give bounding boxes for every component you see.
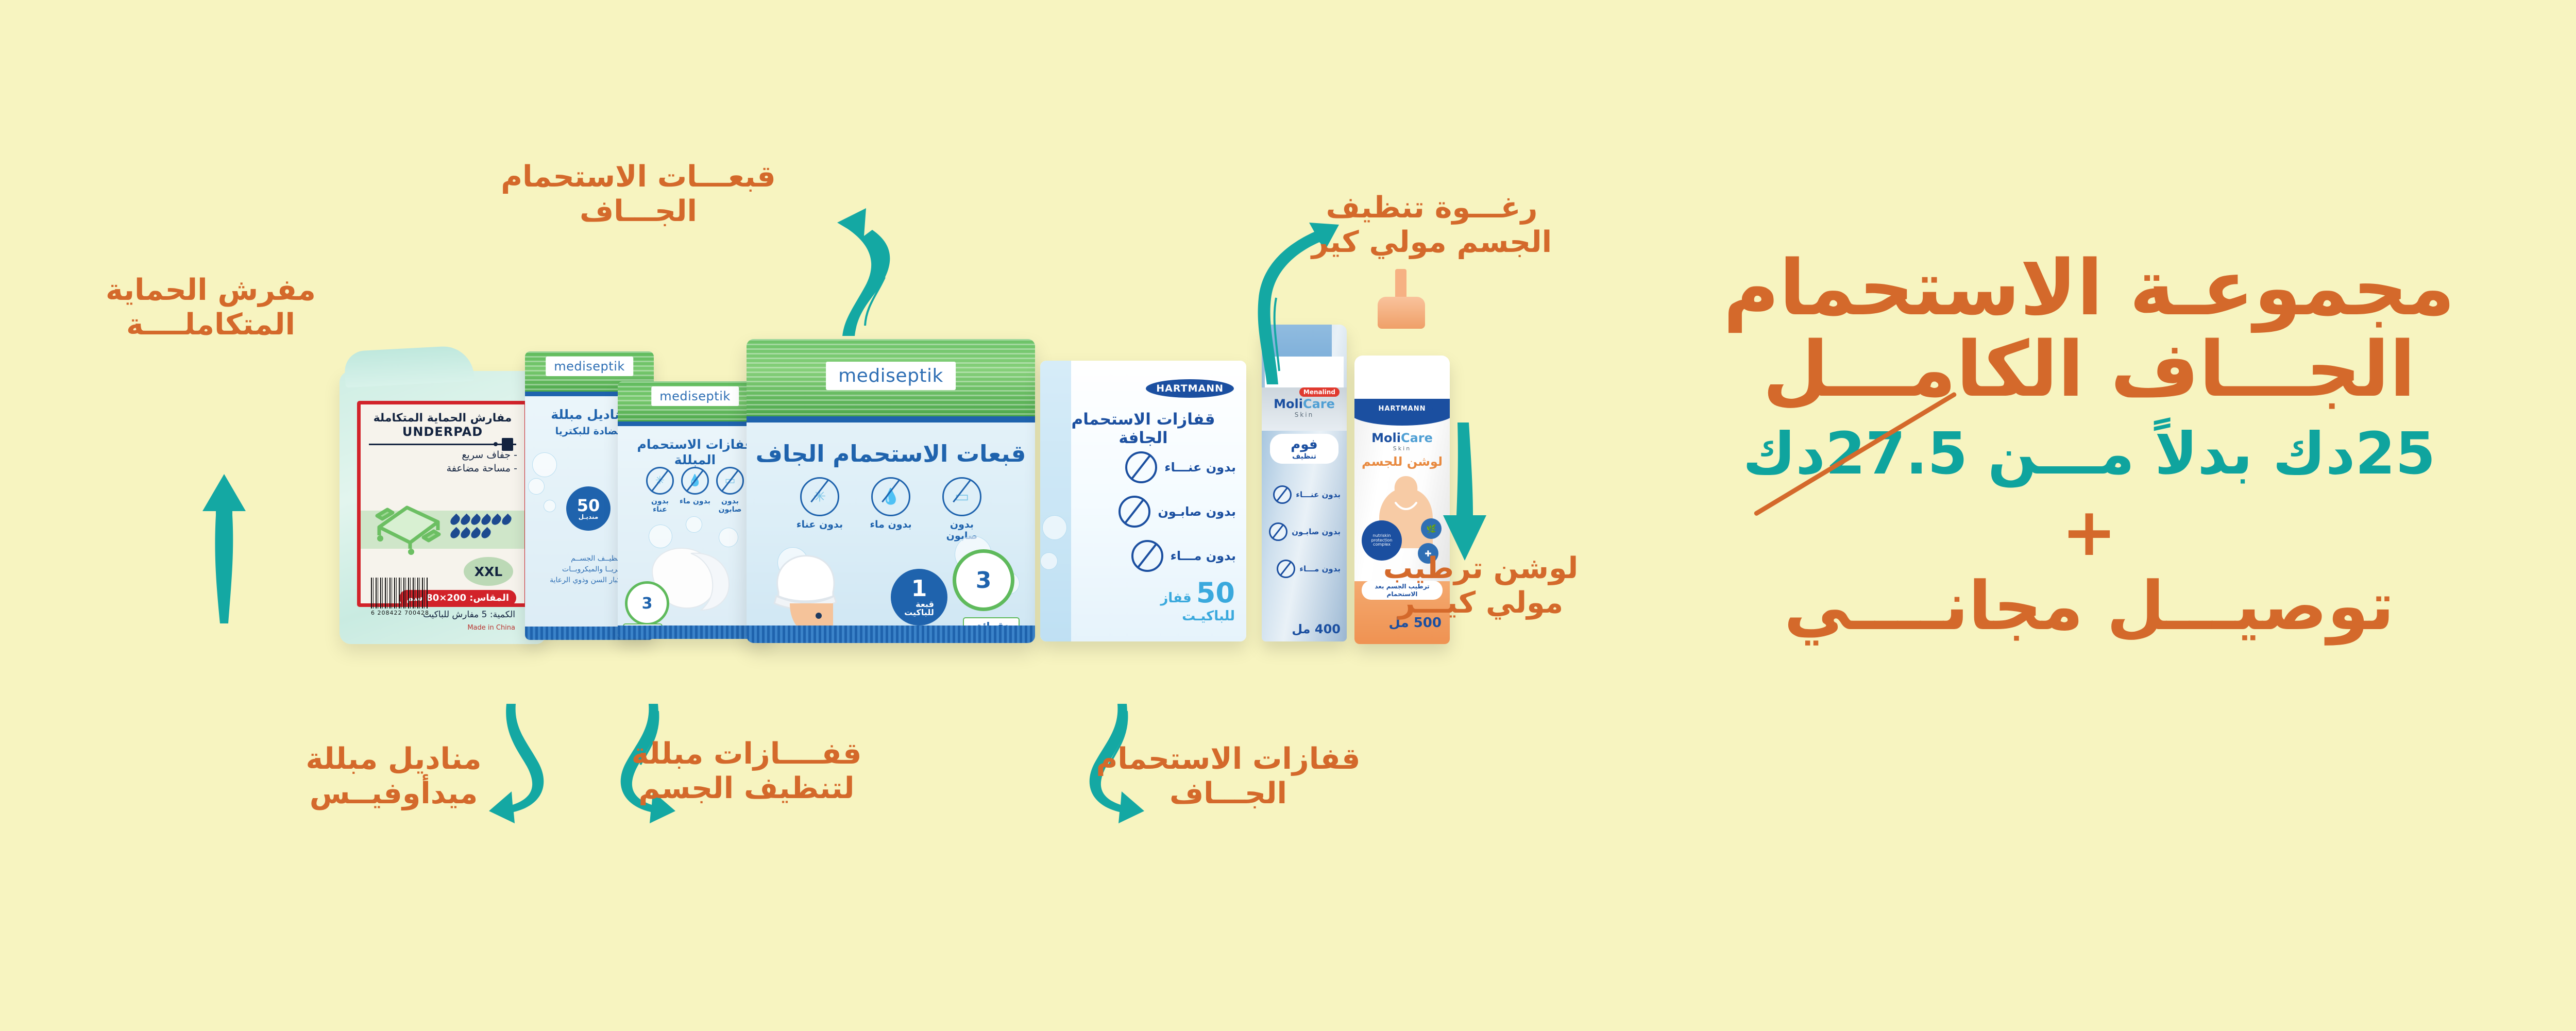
hero-title-line-2: الجـــاف الكامـــل xyxy=(1664,329,2514,410)
feature-no-soap: بدون صابـون xyxy=(1118,496,1236,528)
pack-count: 1 xyxy=(911,578,927,600)
feature-no-soap: ▭ بدون صابون xyxy=(937,477,987,542)
sparkle-icon xyxy=(1273,485,1292,504)
sparkle-icon: ✳ xyxy=(655,475,665,487)
feature-no-water: بدون مـــاء xyxy=(1131,540,1236,572)
menalind-badge: Menalind xyxy=(1299,387,1340,397)
molicare-skin-label: Skin xyxy=(1262,411,1347,418)
absorbency-drops xyxy=(451,515,517,539)
molicare-logo: MoliCare xyxy=(1266,397,1343,411)
hero-plus-sign: + xyxy=(1664,500,2514,566)
feature-no-soap: بدون صابـون xyxy=(1269,522,1341,541)
hero-price-row: 25دك بدلاً مـــن 27.5دك xyxy=(1664,422,2514,486)
callout-wet-wipes: مناديل مبللة ميدأوفيــس xyxy=(273,742,515,812)
callout-body-lotion: لوشن ترطيب مولي كيـــر xyxy=(1365,551,1597,621)
underpad-quantity: الكمية: 5 مفارش للباكيت xyxy=(423,610,515,620)
wipes-count-badge: 50 منديـل xyxy=(566,486,611,531)
dry-caps-title: قبعات الاستحمام الجاف xyxy=(751,440,1031,468)
hero-free-delivery: توصيـــل مجانــــي xyxy=(1664,571,2514,641)
product-dry-caps: mediseptik قبعات الاستحمام الجاف ▭ بدون … xyxy=(747,339,1035,643)
barcode-number: 6 208422 700428 xyxy=(371,610,429,616)
product-underpad: مفارش الحماية المتكاملة UNDERPAD - جفاف … xyxy=(340,371,546,644)
timer-badge: 3 xyxy=(625,581,669,626)
sparkle-icon: ✳ xyxy=(813,488,826,506)
hartmann-logo: HARTMANN xyxy=(1372,403,1433,415)
feature-no-water: 💧 بدون ماء xyxy=(866,477,916,542)
callout-dry-caps: قبعـــات الاستحمام الجـــاف xyxy=(494,160,783,229)
pump-head xyxy=(1378,288,1425,356)
dry-gloves-count: 50 قفاز للباكيـت xyxy=(1160,578,1235,624)
timer-badge: 3 xyxy=(953,549,1014,611)
callout-underpad: مفرش الحماية المتكاملــــة xyxy=(77,273,345,343)
price-old: 27.5دك xyxy=(1743,422,1968,486)
barcode-icon xyxy=(371,578,429,609)
water-drop-icon xyxy=(1131,540,1163,572)
foam-pill: فوم تنظيف xyxy=(1270,434,1338,464)
underpad-label: مفارش الحماية المتكاملة UNDERPAD - جفاف … xyxy=(357,401,528,607)
water-drop-icon: 💧 xyxy=(881,488,900,506)
feature-no-soap: ▭ بدون صابون xyxy=(714,467,746,514)
callout-wet-gloves: قفــــازات مبللة لتنظيف الجسم xyxy=(623,737,870,806)
hartmann-logo: HARTMANN xyxy=(1146,379,1234,398)
feature-no-water: 💧 بدون ماء xyxy=(679,467,711,514)
sparkle-icon xyxy=(1125,451,1157,483)
blue-band xyxy=(747,416,1035,422)
mediseptik-logo: mediseptik xyxy=(546,357,633,376)
mediseptik-logo: mediseptik xyxy=(826,362,956,390)
wipes-count-unit: منديـل xyxy=(579,514,599,520)
underpad-title-en: UNDERPAD xyxy=(368,425,517,439)
feature-no-effort: ✳ بدون عناء xyxy=(795,477,844,542)
price-new: 25دك xyxy=(2273,420,2435,487)
pack-unit: قبعة للباكيت xyxy=(904,600,934,617)
arrow-curve-up-left-icon xyxy=(824,196,958,340)
divider xyxy=(369,444,516,445)
bag-tuck xyxy=(344,345,474,388)
soap-icon xyxy=(1269,522,1287,541)
underpad-size-badge: XXL xyxy=(464,557,513,586)
soap-icon: ▭ xyxy=(955,488,969,506)
underpad-origin: Made in China xyxy=(467,624,515,632)
underpad-title-ar: مفارش الحماية المتكاملة xyxy=(368,412,517,425)
soap-icon: ▭ xyxy=(725,475,736,487)
underpad-bullet-2: - مساحة مضاعفة xyxy=(368,463,517,474)
feature-no-effort: بدون عنـــاء xyxy=(1125,451,1236,483)
callout-cleansing-foam: رغـــوة تنظيف الجسم مولي كير xyxy=(1282,191,1581,260)
mediseptik-logo: mediseptik xyxy=(651,386,739,406)
hero-offer-block: مجموعـة الاستحمام الجـــاف الكامـــل 25د… xyxy=(1664,247,2514,641)
feature-no-effort: بدون عنـــاء xyxy=(1273,485,1341,504)
feature-no-effort: ✳ بدون عناء xyxy=(644,467,676,514)
bottom-stripe xyxy=(747,626,1035,643)
wipes-count: 50 xyxy=(577,497,600,514)
price-prefix: بدلاً مـــن xyxy=(1988,420,2252,487)
person-with-cap-icon xyxy=(756,543,843,638)
product-dry-gloves: HARTMANN قفازات الاستحمام الجافة بدون عن… xyxy=(1040,361,1246,641)
hero-title-line-1: مجموعـة الاستحمام xyxy=(1664,247,2514,329)
promo-banner: مفارش الحماية المتكاملة UNDERPAD - جفاف … xyxy=(0,0,2576,1031)
side-panel xyxy=(1040,361,1071,641)
foam-volume: 400 مل xyxy=(1292,622,1341,636)
feature-no-water: بدون مـــاء xyxy=(1277,560,1341,578)
underpad-bullet-1: - جفاف سريع xyxy=(368,449,517,461)
arrow-up-icon xyxy=(180,453,267,623)
pack-count-badge: 1 قبعة للباكيت xyxy=(891,569,947,626)
dry-gloves-title: قفازات الاستحمام الجافة xyxy=(1045,410,1241,447)
bed-icon xyxy=(370,495,447,556)
water-drop-icon: 💧 xyxy=(688,475,702,487)
callout-dry-gloves: قفازات الاستحمام الجـــاف xyxy=(1092,742,1365,812)
water-drop-icon xyxy=(1277,560,1295,578)
soap-icon xyxy=(1118,496,1150,528)
